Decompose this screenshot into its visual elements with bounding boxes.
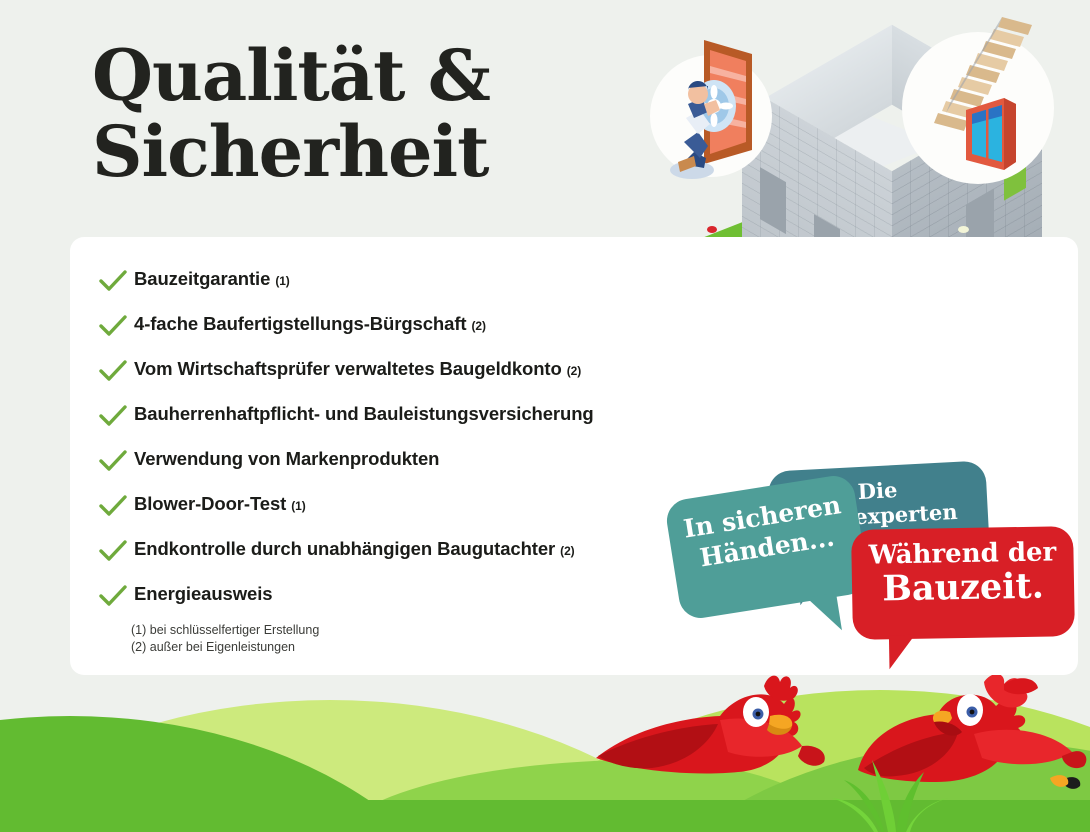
check-icon [98, 450, 134, 476]
infographic-root: Qualität & Sicherheit Bauzeitgarantie (1… [0, 0, 1090, 832]
speech-bubble-line-2: Bauzeit. [852, 566, 1075, 608]
check-icon [98, 315, 134, 341]
title-line-1: Qualität & [92, 38, 652, 114]
list-item-text: Energieausweis [134, 583, 272, 604]
flower-red [707, 226, 717, 233]
list-item-footnote-ref: (2) [560, 544, 574, 558]
list-item-label: Endkontrolle durch unabhängigen Baugutac… [134, 538, 575, 562]
blower-door-icon [660, 32, 775, 182]
bird-left [588, 660, 838, 790]
speech-bubble-during-construction: Während der Bauzeit. [851, 526, 1075, 640]
footnote-1: (1) bei schlüsselfertiger Erstellung [131, 622, 319, 639]
footnotes: (1) bei schlüsselfertiger Erstellung (2)… [131, 622, 319, 656]
list-item-text: Verwendung von Markenprodukten [134, 448, 439, 469]
page-title: Qualität & Sicherheit [92, 38, 652, 190]
title-line-2: Sicherheit [92, 114, 652, 190]
list-item: Bauzeitgarantie (1) [98, 268, 698, 313]
check-icon [98, 405, 134, 431]
list-item-text: 4-fache Baufertigstellungs-Bürgschaft [134, 313, 466, 334]
list-item: Blower-Door-Test (1) [98, 493, 698, 538]
list-item-label: Verwendung von Markenprodukten [134, 448, 439, 472]
check-icon [98, 585, 134, 611]
window-icon [960, 90, 1030, 180]
check-icon [98, 495, 134, 521]
list-item-text: Blower-Door-Test [134, 493, 286, 514]
list-item-footnote-ref: (2) [567, 364, 581, 378]
list-item-text: Vom Wirtschaftsprüfer verwaltetes Baugel… [134, 358, 562, 379]
list-item: 4-fache Baufertigstellungs-Bürgschaft (2… [98, 313, 698, 358]
list-item-label: Blower-Door-Test (1) [134, 493, 306, 517]
list-item-footnote-ref: (2) [471, 319, 485, 333]
list-item: Bauherrenhaftpflicht- und Bauleistungsve… [98, 403, 698, 448]
list-item-label: Bauherrenhaftpflicht- und Bauleistungsve… [134, 403, 594, 427]
list-item: Verwendung von Markenprodukten [98, 448, 698, 493]
grass-tuft [820, 740, 950, 832]
list-item-text: Bauherrenhaftpflicht- und Bauleistungsve… [134, 403, 594, 424]
speech-bubble-tail [889, 635, 916, 669]
list-item: Vom Wirtschaftsprüfer verwaltetes Baugel… [98, 358, 698, 403]
list-item-label: Energieausweis [134, 583, 272, 607]
speech-bubble-tail [806, 593, 842, 635]
speech-bubble-line-1: Während der [851, 526, 1074, 570]
features-checklist: Bauzeitgarantie (1) 4-fache Baufertigste… [98, 268, 698, 628]
check-icon [98, 360, 134, 386]
list-item-text: Bauzeitgarantie [134, 268, 270, 289]
footnote-2: (2) außer bei Eigenleistungen [131, 639, 319, 656]
list-item-label: 4-fache Baufertigstellungs-Bürgschaft (2… [134, 313, 486, 337]
list-item-label: Vom Wirtschaftsprüfer verwaltetes Baugel… [134, 358, 581, 382]
list-item-footnote-ref: (1) [275, 274, 289, 288]
list-item-text: Endkontrolle durch unabhängigen Baugutac… [134, 538, 555, 559]
check-icon [98, 270, 134, 296]
list-item: Endkontrolle durch unabhängigen Baugutac… [98, 538, 698, 583]
check-icon [98, 540, 134, 566]
flower-white [958, 226, 969, 233]
list-item-footnote-ref: (1) [291, 499, 305, 513]
list-item-label: Bauzeitgarantie (1) [134, 268, 290, 292]
